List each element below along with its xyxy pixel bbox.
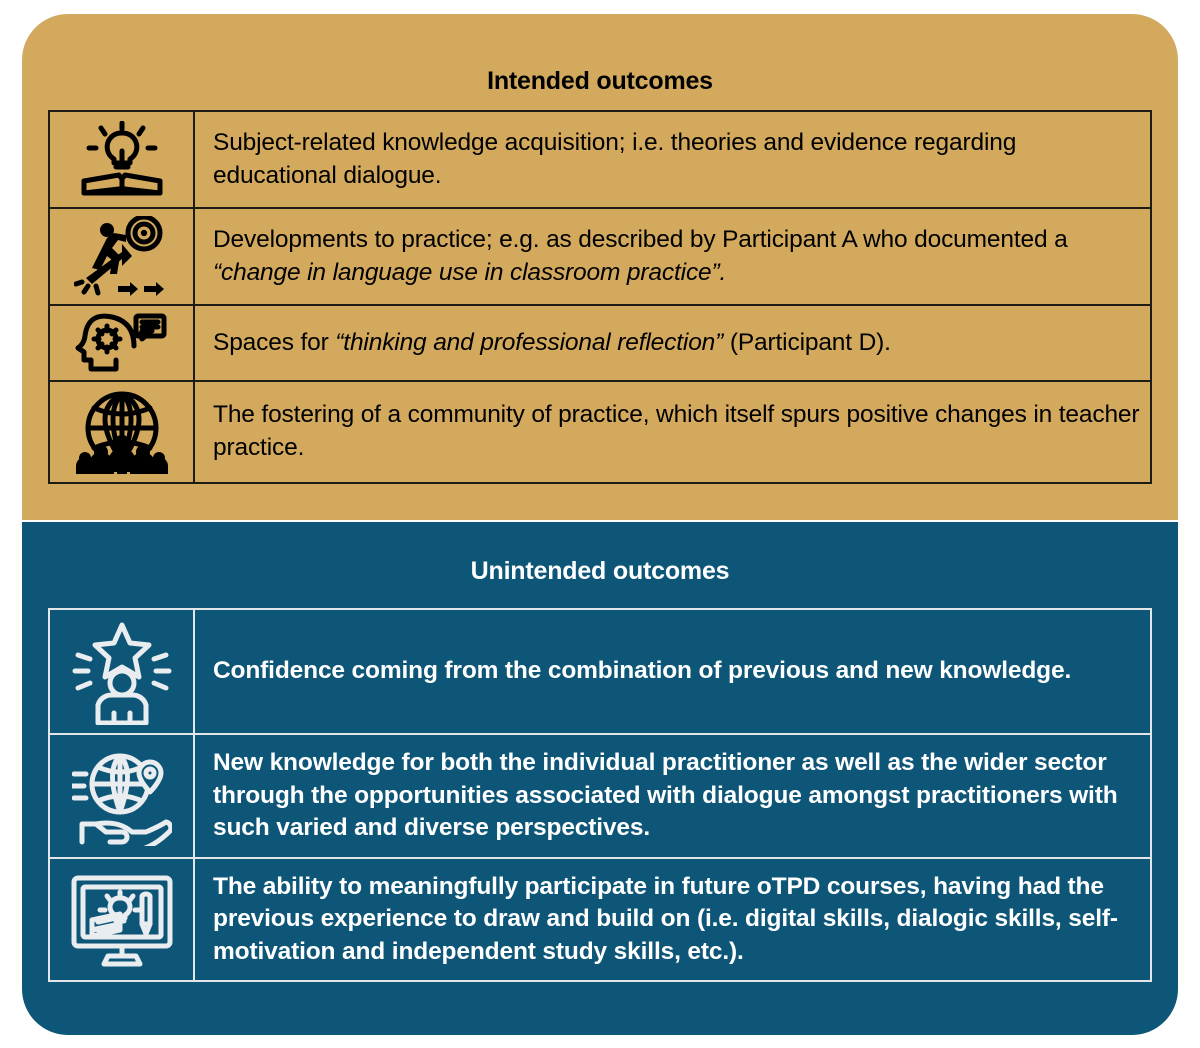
table-row: Spaces for “thinking and professional re… (49, 305, 1151, 381)
monitor-book-lightbulb-pen-icon-svg (70, 872, 174, 968)
text-part-italic: “thinking and professional reflection” (335, 329, 723, 356)
text-part-italic: “change in language use in classroom pra… (213, 259, 726, 286)
unintended-outcomes-panel: Unintended outcomes (22, 522, 1178, 1035)
hand-globe-pin-icon-svg (72, 746, 172, 846)
head-gear-speech-bubble-icon (49, 305, 194, 381)
person-star-icon (49, 609, 194, 734)
unintended-row-text: New knowledge for both the individual pr… (194, 734, 1151, 858)
text-part: The fostering of a community of practice… (213, 401, 1139, 461)
unintended-outcomes-table: Confidence coming from the combination o… (48, 608, 1152, 982)
runner-target-arrow-icon (49, 208, 194, 305)
head-gear-speech-bubble-icon-svg (74, 312, 170, 374)
hand-globe-pin-icon (49, 734, 194, 858)
globe-people-icon-svg (74, 388, 170, 476)
table-row: Subject-related knowledge acquisition; i… (49, 111, 1151, 208)
intended-outcomes-table: Subject-related knowledge acquisition; i… (48, 110, 1152, 484)
intended-outcomes-panel: Intended outcomes (22, 14, 1178, 520)
monitor-book-lightbulb-pen-icon (49, 858, 194, 982)
lightbulb-book-icon-svg (74, 121, 170, 199)
intended-row-text: Developments to practice; e.g. as descri… (194, 208, 1151, 305)
text-part: Developments to practice; e.g. as descri… (213, 226, 1068, 253)
table-row: The fostering of a community of practice… (49, 381, 1151, 483)
intended-row-text: Spaces for “thinking and professional re… (194, 305, 1151, 381)
globe-people-icon (49, 381, 194, 483)
unintended-row-text: The ability to meaningfully participate … (194, 858, 1151, 982)
table-row: New knowledge for both the individual pr… (49, 734, 1151, 858)
person-star-icon-svg (72, 619, 172, 725)
unintended-row-text: Confidence coming from the combination o… (194, 609, 1151, 734)
intended-outcomes-title: Intended outcomes (22, 67, 1178, 96)
intended-row-text: The fostering of a community of practice… (194, 381, 1151, 483)
runner-target-arrow-icon-svg (74, 216, 170, 298)
text-part: New knowledge for both the individual pr… (213, 749, 1118, 841)
text-part: Subject-related knowledge acquisition; i… (213, 129, 1016, 189)
intended-row-text: Subject-related knowledge acquisition; i… (194, 111, 1151, 208)
table-row: Confidence coming from the combination o… (49, 609, 1151, 734)
text-part: (Participant D). (723, 329, 891, 356)
text-part: Confidence coming from the combination o… (213, 657, 1071, 684)
unintended-outcomes-title: Unintended outcomes (22, 557, 1178, 586)
table-row: The ability to meaningfully participate … (49, 858, 1151, 982)
lightbulb-book-icon (49, 111, 194, 208)
text-part: Spaces for (213, 329, 335, 356)
table-row: Developments to practice; e.g. as descri… (49, 208, 1151, 305)
outcomes-figure: Intended outcomes (0, 0, 1200, 1048)
text-part: The ability to meaningfully participate … (213, 873, 1118, 965)
